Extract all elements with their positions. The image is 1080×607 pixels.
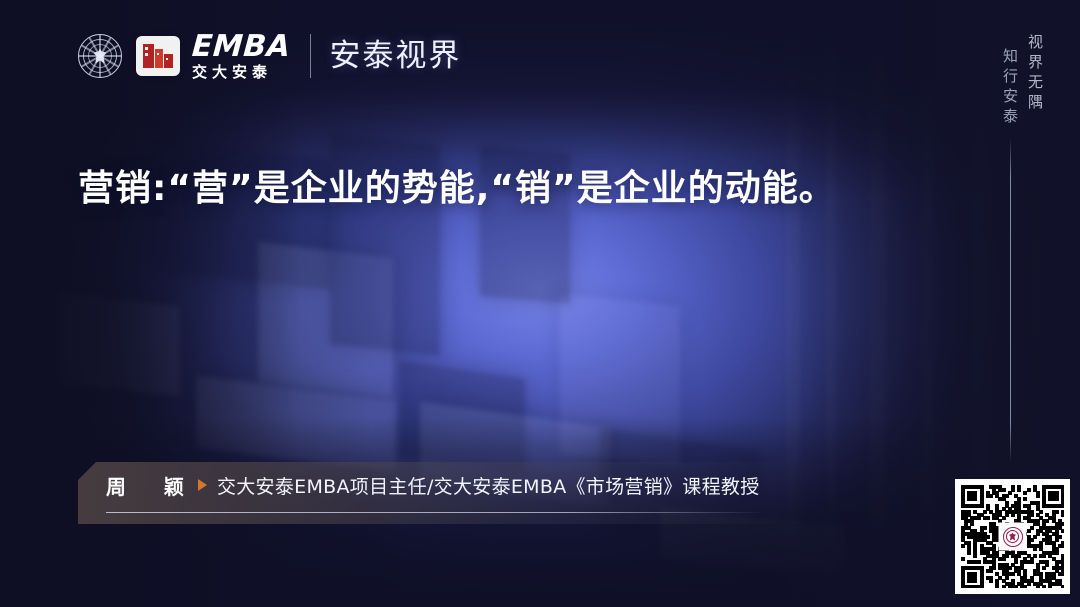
side-vertical-right: 视界无隅 (1027, 34, 1042, 128)
sjtu-university-seal-icon (78, 34, 122, 78)
qr-logo-ring (1003, 527, 1023, 547)
speaker-role: 交大安泰EMBA项目主任/交大安泰EMBA《市场营销》课程教授 (217, 472, 760, 499)
slide-root: EMBA 交大安泰 安泰视界 营销:“营”是企业的势能,“销”是企业的动能。 知… (0, 0, 1080, 607)
play-triangle-icon (198, 479, 207, 491)
speaker-underline (106, 512, 766, 513)
brand-logo-lockup: EMBA 交大安泰 安泰视界 (78, 30, 461, 82)
speaker-content: 周 颖 交大安泰EMBA项目主任/交大安泰EMBA《市场营销》课程教授 (106, 462, 826, 508)
side-vertical-text: 知行安泰 视界无隅 (1002, 34, 1042, 128)
side-vertical-left: 知行安泰 (1002, 48, 1017, 128)
emba-text: EMBA (191, 32, 292, 62)
qr-logo-star (1009, 533, 1016, 541)
sjtu-seal-icon (1001, 525, 1025, 549)
qr-code[interactable] (955, 479, 1070, 594)
page-title: 营销:“营”是企业的势能,“销”是企业的动能。 (78, 165, 958, 214)
logo-divider (310, 34, 311, 78)
seal-core (94, 49, 107, 64)
emba-wordmark: EMBA 交大安泰 (192, 32, 290, 80)
brand-name-cn: 安泰视界 (329, 41, 461, 72)
emba-subtitle: 交大安泰 (192, 65, 272, 80)
side-vertical-rule (1010, 138, 1011, 462)
antai-building-mark-icon (136, 36, 180, 76)
speaker-name: 周 颖 (106, 471, 192, 500)
